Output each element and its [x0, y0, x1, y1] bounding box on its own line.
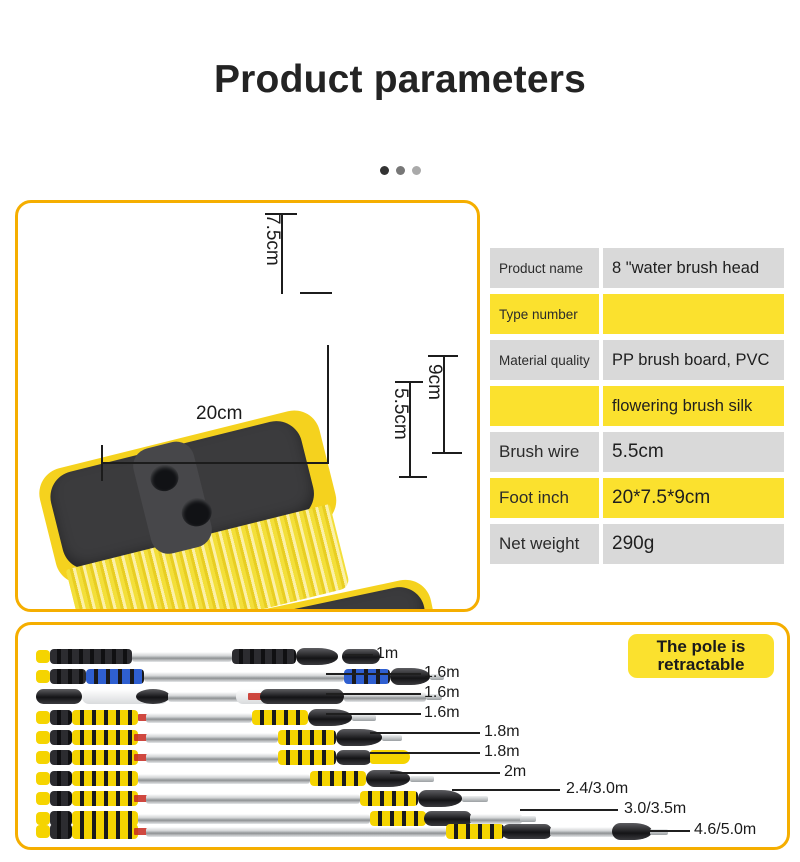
pole-item [36, 825, 656, 840]
table-row: Foot inch 20*7.5*9cm [490, 478, 784, 518]
pole-6-label: 1.8m [484, 743, 520, 761]
dimension-height-label: 9cm [423, 364, 445, 400]
pole-5-label: 1.8m [484, 723, 520, 741]
dot-3-icon[interactable] [412, 166, 421, 175]
leader-line [452, 789, 560, 791]
param-label: Type number [490, 294, 599, 334]
pole-8-label: 2.4/3.0m [566, 780, 628, 798]
table-row: Brush wire 5.5cm [490, 432, 784, 472]
dimension-bristle-label: 5.5cm [389, 388, 411, 440]
param-label: Foot inch [490, 478, 599, 518]
pole-item [36, 772, 456, 787]
pole-2-label: 1.6m [424, 664, 460, 682]
param-label [490, 386, 599, 426]
dimension-depth-label: 7.5cm [261, 214, 283, 266]
table-row: Net weight 290g [490, 524, 784, 564]
retractable-badge: The pole is retractable [628, 634, 774, 678]
param-value: flowering brush silk [603, 386, 784, 426]
product-parameters-table: Product name 8 "water brush head Type nu… [490, 248, 784, 570]
page-title: Product parameters [0, 58, 800, 102]
param-label: Product name [490, 248, 599, 288]
carousel-dots [0, 166, 800, 175]
table-row: flowering brush silk [490, 386, 784, 426]
leader-line [370, 732, 480, 734]
retractable-badge-line2: retractable [658, 656, 745, 674]
param-value: 5.5cm [603, 432, 784, 472]
pole-9-label: 3.0/3.5m [624, 800, 686, 818]
table-row: Product name 8 "water brush head [490, 248, 784, 288]
leader-line [650, 830, 690, 832]
dot-2-icon[interactable] [396, 166, 405, 175]
retractable-badge-line1: The pole is [657, 638, 746, 656]
leader-line [345, 654, 373, 656]
dot-active-icon[interactable] [380, 166, 389, 175]
param-value: 8 "water brush head [603, 248, 784, 288]
param-value: 290g [603, 524, 784, 564]
table-row: Material quality PP brush board, PVC [490, 340, 784, 380]
pole-4-label: 1.6m [424, 704, 460, 722]
leader-line [390, 772, 500, 774]
pole-item [36, 650, 381, 665]
param-label: Brush wire [490, 432, 599, 472]
pole-10-label: 4.6/5.0m [694, 821, 756, 839]
leader-line [520, 809, 618, 811]
leader-line [326, 693, 421, 695]
pole-7-label: 2m [504, 763, 526, 781]
pole-item [36, 792, 496, 807]
dimension-length-label: 20cm [196, 403, 242, 425]
leader-line [326, 673, 421, 675]
pole-1-label: 1m [376, 645, 398, 663]
param-value: PP brush board, PVC [603, 340, 784, 380]
leader-line [370, 752, 480, 754]
param-label: Material quality [490, 340, 599, 380]
param-value [603, 294, 784, 334]
param-value: 20*7.5*9cm [603, 478, 784, 518]
table-row: Type number [490, 294, 784, 334]
pole-3-label: 1.6m [424, 684, 460, 702]
param-label: Net weight [490, 524, 599, 564]
leader-line [326, 713, 421, 715]
